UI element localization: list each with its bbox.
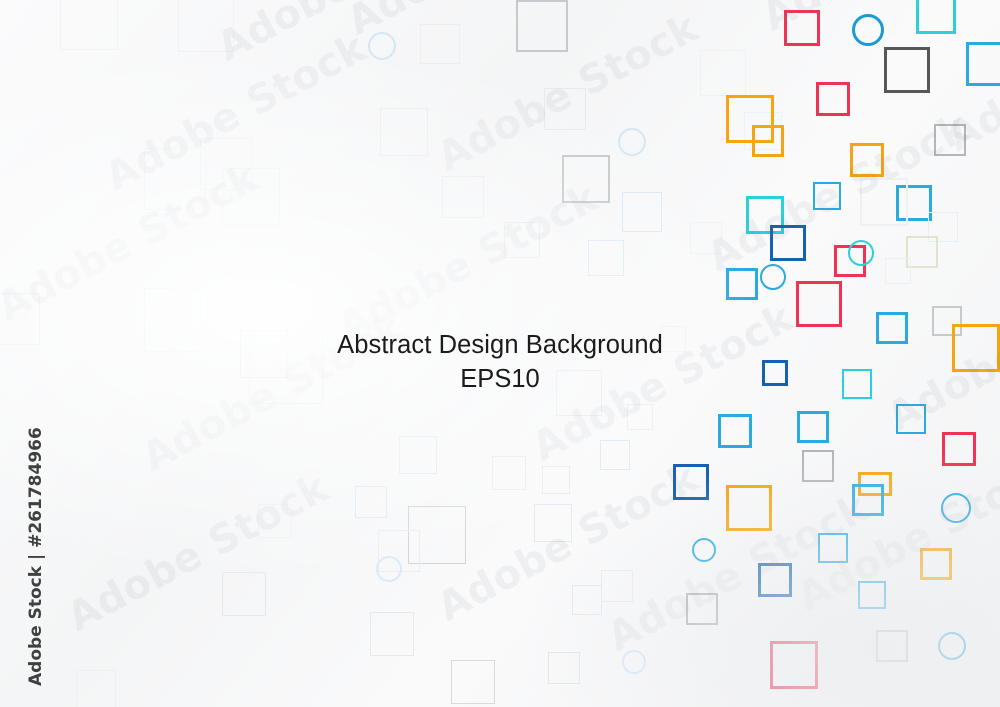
decorative-square xyxy=(942,432,976,466)
decorative-square xyxy=(726,485,772,531)
decorative-square xyxy=(896,404,926,434)
decorative-square xyxy=(542,466,570,494)
decorative-circle xyxy=(622,650,646,674)
decorative-square xyxy=(758,563,792,597)
decorative-square xyxy=(700,50,746,96)
decorative-circle xyxy=(376,556,402,582)
decorative-square xyxy=(60,0,118,50)
decorative-square xyxy=(816,82,850,116)
decorative-square xyxy=(252,336,288,372)
decorative-square xyxy=(451,660,495,704)
decorative-square xyxy=(952,324,1000,372)
decorative-square xyxy=(588,240,624,276)
decorative-square xyxy=(885,258,911,284)
decorative-square xyxy=(916,0,956,34)
decorative-circle xyxy=(368,32,396,60)
decorative-square xyxy=(504,222,540,258)
decorative-square xyxy=(884,47,930,93)
decorative-square xyxy=(860,178,908,226)
decorative-circle xyxy=(618,128,646,156)
decorative-square xyxy=(797,411,829,443)
decorative-square xyxy=(627,404,653,430)
decorative-square xyxy=(876,312,908,344)
decorative-square xyxy=(852,484,884,516)
decorative-square xyxy=(813,182,841,210)
decorative-square xyxy=(355,486,387,518)
decorative-square xyxy=(934,124,966,156)
decorative-square xyxy=(718,414,752,448)
decorative-square xyxy=(726,268,758,300)
decorative-square xyxy=(858,581,886,609)
decorative-square xyxy=(144,148,206,210)
decorative-square xyxy=(762,360,788,386)
decorative-square xyxy=(544,88,586,130)
abstract-background-image: Adobe StockAdobe StockAdobe StockAdobe S… xyxy=(0,0,1000,707)
decorative-square xyxy=(420,24,460,64)
decorative-square xyxy=(784,10,820,46)
decorative-square xyxy=(842,369,872,399)
decorative-square xyxy=(770,225,806,261)
decorative-square xyxy=(562,155,610,203)
decorative-square xyxy=(752,125,784,157)
background-gradient xyxy=(0,0,1000,707)
decorative-circle xyxy=(692,538,716,562)
decorative-square xyxy=(222,572,266,616)
stock-credit-wrap: Adobe Stock | #261784966 xyxy=(0,0,40,707)
decorative-square xyxy=(492,456,526,490)
decorative-square xyxy=(258,504,292,538)
decorative-square xyxy=(818,533,848,563)
decorative-circle xyxy=(760,264,786,290)
decorative-square xyxy=(770,641,818,689)
decorative-square xyxy=(380,108,428,156)
decorative-circle xyxy=(941,493,971,523)
decorative-square xyxy=(850,143,884,177)
decorative-square xyxy=(556,370,602,416)
decorative-circle xyxy=(938,632,966,660)
decorative-square xyxy=(920,548,952,580)
decorative-square xyxy=(690,222,722,254)
decorative-square xyxy=(966,42,1000,86)
decorative-square xyxy=(548,652,580,684)
decorative-square xyxy=(222,168,280,226)
stock-credit-text: Adobe Stock | #261784966 xyxy=(26,427,46,686)
decorative-square xyxy=(370,612,414,656)
decorative-square xyxy=(622,192,662,232)
decorative-square xyxy=(399,436,437,474)
decorative-square xyxy=(796,281,842,327)
decorative-square xyxy=(534,504,572,542)
decorative-square xyxy=(442,176,484,218)
decorative-square xyxy=(572,585,602,615)
decorative-circle xyxy=(848,240,874,266)
decorative-square xyxy=(144,288,208,352)
decorative-square xyxy=(600,440,630,470)
decorative-circle xyxy=(852,14,884,46)
decorative-square xyxy=(673,464,709,500)
decorative-square xyxy=(876,630,908,662)
decorative-square xyxy=(601,570,633,602)
decorative-square xyxy=(660,326,686,352)
decorative-square xyxy=(802,450,834,482)
decorative-square xyxy=(178,0,234,52)
decorative-square xyxy=(686,593,718,625)
decorative-square xyxy=(76,670,116,707)
decorative-square xyxy=(516,0,568,52)
